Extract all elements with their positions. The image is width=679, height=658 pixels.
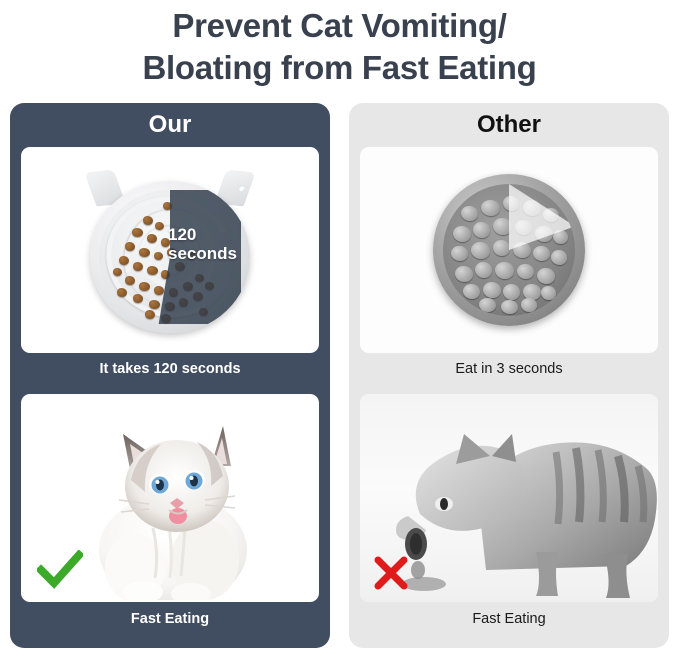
panel-other: Other: [349, 103, 669, 648]
timer-unit: seconds: [168, 244, 237, 263]
other-cat-card: [360, 394, 658, 602]
panel-our: Our: [10, 103, 330, 648]
timer-overlay-text: 120 seconds: [168, 225, 237, 263]
our-bowl-caption: It takes 120 seconds: [10, 361, 330, 377]
page-title-line-1: Prevent Cat Vomiting/: [0, 5, 679, 47]
our-cat-caption: Fast Eating: [10, 611, 330, 627]
panel-our-header: Our: [10, 103, 330, 147]
timer-value: 120: [168, 225, 196, 244]
panel-other-header: Other: [349, 103, 669, 147]
other-cat-caption: Fast Eating: [349, 611, 669, 627]
comparison-panels: Our: [10, 103, 669, 651]
regular-bowl-image: [360, 147, 658, 353]
other-bowl-card: [360, 147, 658, 353]
x-mark-icon: [374, 556, 408, 590]
regular-bowl-body: [433, 174, 585, 326]
page-title: Prevent Cat Vomiting/ Bloating from Fast…: [0, 0, 679, 89]
our-cat-card: [21, 394, 319, 602]
slow-feeder-bowl-image: 120 seconds: [21, 147, 319, 353]
check-mark-icon: [37, 550, 83, 590]
our-bowl-card: 120 seconds: [21, 147, 319, 353]
ragdoll-cat-illustration: [65, 400, 275, 600]
other-bowl-caption: Eat in 3 seconds: [349, 361, 669, 377]
page-title-line-2: Bloating from Fast Eating: [0, 47, 679, 89]
